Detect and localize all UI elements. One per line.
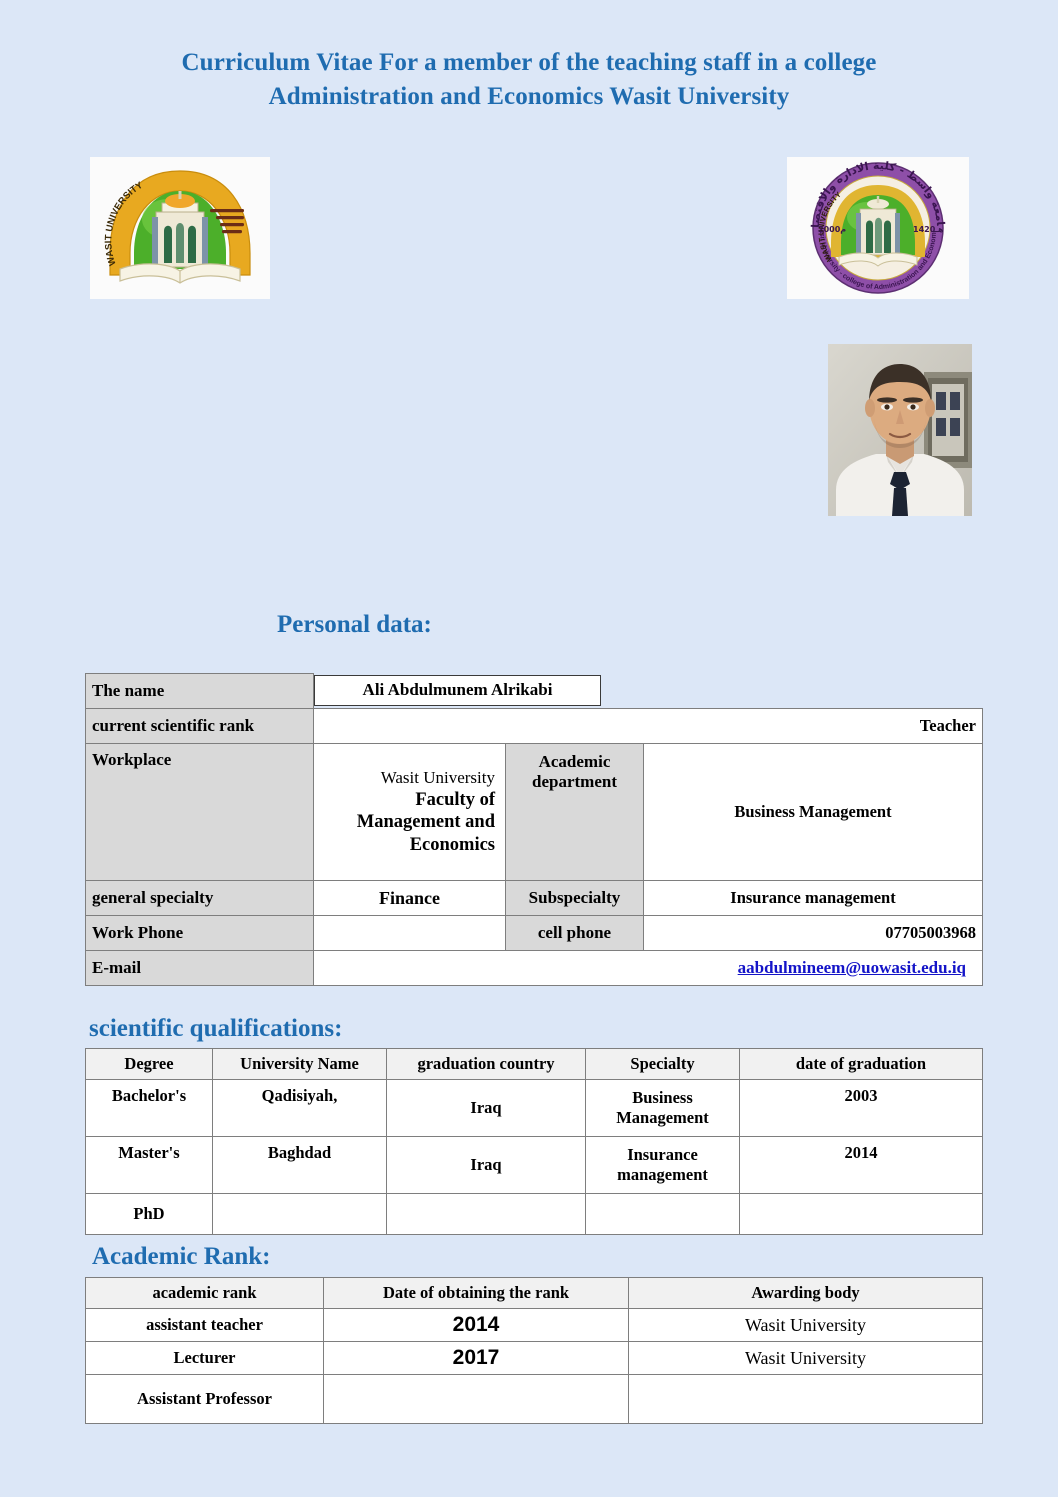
rank-col-rank: academic rank — [86, 1278, 324, 1309]
page-title-line-2: Administration and Economics Wasit Unive… — [0, 80, 1058, 114]
email-label: E-mail — [86, 951, 314, 986]
qual-specialty — [586, 1194, 740, 1235]
qual-col-date: date of graduation — [740, 1049, 983, 1080]
qualifications-header-row: Degree University Name graduation countr… — [86, 1049, 983, 1080]
table-row-phone: Work Phone cell phone 07705003968 — [86, 916, 983, 951]
academic-department-value: Business Management — [644, 744, 983, 881]
qual-degree: Master's — [86, 1137, 213, 1194]
staff-member-photo — [828, 344, 972, 516]
qual-specialty: Business Management — [586, 1080, 740, 1137]
table-row: Lecturer 2017 Wasit University — [86, 1342, 983, 1375]
academic-rank-heading: Academic Rank: — [92, 1243, 270, 1271]
academic-department-label: Academic department — [506, 744, 644, 881]
qual-degree: PhD — [86, 1194, 213, 1235]
current-rank-label: current scientific rank — [86, 709, 314, 744]
qual-col-specialty: Specialty — [586, 1049, 740, 1080]
svg-text:م2000: م2000 — [818, 225, 846, 234]
email-link[interactable]: aabdulmineem@uowasit.edu.iq — [738, 958, 966, 977]
rank-name: assistant teacher — [86, 1309, 324, 1342]
rank-awarding-body — [629, 1375, 983, 1424]
cell-phone-value: 07705003968 — [644, 916, 983, 951]
rank-name: Lecturer — [86, 1342, 324, 1375]
qual-date: 2003 — [740, 1080, 983, 1137]
page-title-line-1: Curriculum Vitae For a member of the tea… — [0, 46, 1058, 80]
personal-data-heading: Personal data: — [277, 611, 432, 639]
rank-col-body: Awarding body — [629, 1278, 983, 1309]
work-phone-value — [314, 916, 506, 951]
qual-university: Baghdad — [213, 1137, 387, 1194]
rank-date: 2017 — [324, 1342, 629, 1375]
table-row-email: E-mail aabdulmineem@uowasit.edu.iq — [86, 951, 983, 986]
table-row-name: The name Ali Abdulmunem Alrikabi — [86, 674, 983, 709]
table-row: Master's Baghdad Iraq Insurance manageme… — [86, 1137, 983, 1194]
workplace-university: Wasit University — [320, 768, 495, 789]
qual-col-country: graduation country — [387, 1049, 586, 1080]
rank-date: 2014 — [324, 1309, 629, 1342]
workplace-value: Wasit University Faculty of Management a… — [314, 744, 506, 881]
table-row: Bachelor's Qadisiyah, Iraq Business Mana… — [86, 1080, 983, 1137]
general-specialty-label: general specialty — [86, 881, 314, 916]
table-row: PhD — [86, 1194, 983, 1235]
page-title: Curriculum Vitae For a member of the tea… — [0, 0, 1058, 114]
name-label: The name — [86, 674, 314, 709]
subspecialty-label: Subspecialty — [506, 881, 644, 916]
current-rank-value: Teacher — [314, 709, 983, 744]
rank-col-date: Date of obtaining the rank — [324, 1278, 629, 1309]
subspecialty-value: Insurance management — [644, 881, 983, 916]
rank-header-row: academic rank Date of obtaining the rank… — [86, 1278, 983, 1309]
qualifications-heading: scientific qualifications: — [89, 1015, 342, 1043]
rank-awarding-body: Wasit University — [629, 1342, 983, 1375]
academic-rank-table: academic rank Date of obtaining the rank… — [85, 1277, 983, 1424]
table-row-workplace: Workplace Wasit University Faculty of Ma… — [86, 744, 983, 881]
qual-date — [740, 1194, 983, 1235]
workplace-label: Workplace — [86, 744, 314, 881]
qual-date: 2014 — [740, 1137, 983, 1194]
qual-col-university: University Name — [213, 1049, 387, 1080]
table-row-current-rank: current scientific rank Teacher — [86, 709, 983, 744]
qual-country — [387, 1194, 586, 1235]
name-value: Ali Abdulmunem Alrikabi — [314, 675, 601, 706]
rank-awarding-body: Wasit University — [629, 1309, 983, 1342]
rank-date — [324, 1375, 629, 1424]
table-row-specialty: general specialty Finance Subspecialty I… — [86, 881, 983, 916]
wasit-university-logo: WASIT UNIVERSITY — [90, 157, 270, 299]
rank-name: Assistant Professor — [86, 1375, 324, 1424]
email-value-cell: aabdulmineem@uowasit.edu.iq — [314, 951, 983, 986]
qualifications-table: Degree University Name graduation countr… — [85, 1048, 983, 1235]
general-specialty-value: Finance — [314, 881, 506, 916]
college-seal-logo: جامعة واسط - كلية الادارة والاقتصاد Wasi… — [787, 157, 969, 299]
qual-university — [213, 1194, 387, 1235]
qual-country: Iraq — [387, 1137, 586, 1194]
qual-specialty: Insurance management — [586, 1137, 740, 1194]
table-row: Assistant Professor — [86, 1375, 983, 1424]
work-phone-label: Work Phone — [86, 916, 314, 951]
qual-degree: Bachelor's — [86, 1080, 213, 1137]
personal-data-table: The name Ali Abdulmunem Alrikabi current… — [85, 673, 983, 986]
svg-text:1420هـ: 1420هـ — [913, 225, 944, 234]
qual-country: Iraq — [387, 1080, 586, 1137]
qual-col-degree: Degree — [86, 1049, 213, 1080]
name-value-host: Ali Abdulmunem Alrikabi — [314, 674, 983, 709]
table-row: assistant teacher 2014 Wasit University — [86, 1309, 983, 1342]
workplace-faculty: Faculty of Management and Economics — [320, 789, 495, 857]
qual-university: Qadisiyah, — [213, 1080, 387, 1137]
cell-phone-label: cell phone — [506, 916, 644, 951]
